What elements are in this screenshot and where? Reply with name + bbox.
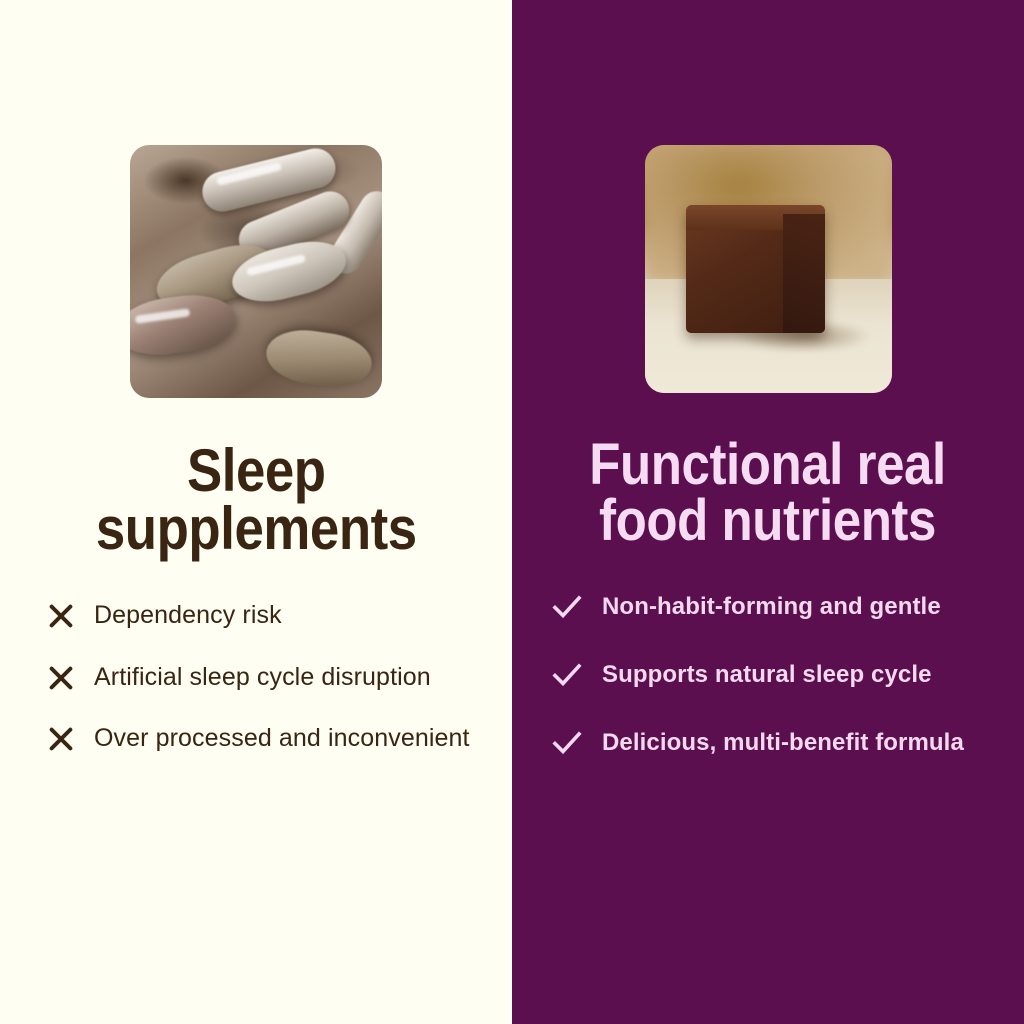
list-item-label: Dependency risk bbox=[94, 600, 282, 632]
check-icon bbox=[550, 590, 584, 624]
x-icon bbox=[46, 601, 76, 631]
panel-functional-food: Functional real food nutrients Non-habit… bbox=[512, 0, 1024, 1024]
list-item-label: Non-habit-forming and gentle bbox=[602, 591, 941, 622]
list-item-label: Delicious, multi-benefit formula bbox=[602, 727, 964, 758]
panel-sleep-supplements: Sleep supplements Dependency risk Artifi… bbox=[0, 0, 512, 1024]
page-title-left: Sleep supplements bbox=[87, 442, 425, 558]
energy-bite-photo bbox=[645, 145, 892, 393]
list-item-label: Supports natural sleep cycle bbox=[602, 659, 932, 690]
list-item: Delicious, multi-benefit formula bbox=[550, 726, 1002, 760]
list-item-label: Artificial sleep cycle disruption bbox=[94, 662, 431, 694]
page-title-right: Functional real food nutrients bbox=[581, 437, 955, 550]
energy-bite-photo-image bbox=[645, 145, 892, 393]
comparison-infographic: Sleep supplements Dependency risk Artifi… bbox=[0, 0, 1024, 1024]
check-icon bbox=[550, 726, 584, 760]
tablet-shape bbox=[263, 325, 375, 392]
x-icon bbox=[46, 663, 76, 693]
list-item: Artificial sleep cycle disruption bbox=[46, 662, 484, 694]
x-icon bbox=[46, 724, 76, 754]
energy-bite-cube bbox=[686, 205, 824, 334]
list-item-label: Over processed and inconvenient bbox=[94, 723, 470, 755]
benefit-list: Non-habit-forming and gentle Supports na… bbox=[512, 590, 1024, 794]
drawback-list: Dependency risk Artificial sleep cycle d… bbox=[0, 600, 512, 785]
check-icon bbox=[550, 658, 584, 692]
pills-photo-image bbox=[130, 145, 382, 398]
list-item: Non-habit-forming and gentle bbox=[550, 590, 1002, 624]
pills-photo bbox=[130, 145, 382, 398]
list-item: Dependency risk bbox=[46, 600, 484, 632]
list-item: Supports natural sleep cycle bbox=[550, 658, 1002, 692]
nut-seed-bits bbox=[686, 205, 824, 334]
list-item: Over processed and inconvenient bbox=[46, 723, 484, 755]
